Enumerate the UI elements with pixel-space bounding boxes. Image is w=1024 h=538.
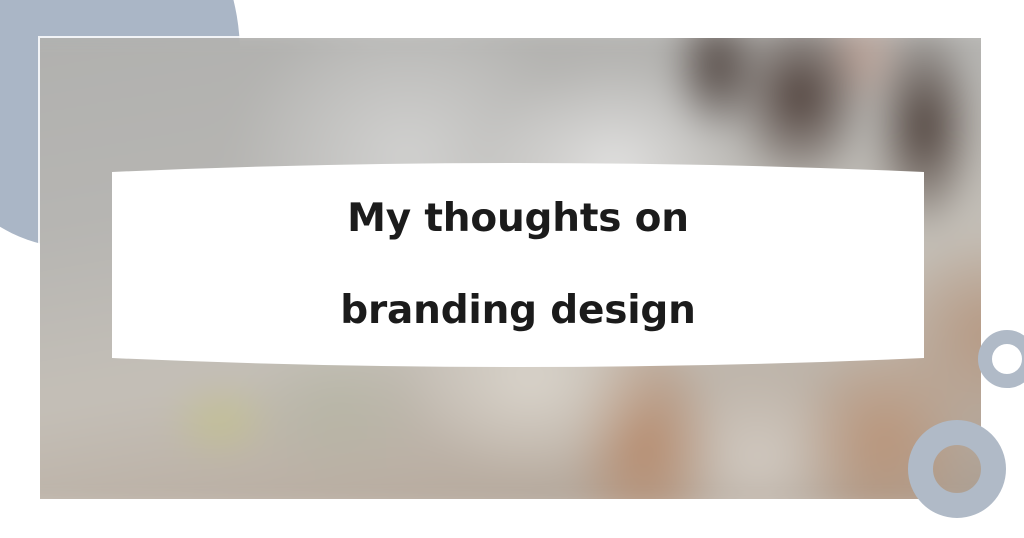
decorative-ring-large-icon [908,420,1006,518]
decorative-ring-small-icon [978,330,1024,388]
slide-canvas: My thoughts on branding design [0,0,1024,538]
title-banner-shape [112,163,924,367]
